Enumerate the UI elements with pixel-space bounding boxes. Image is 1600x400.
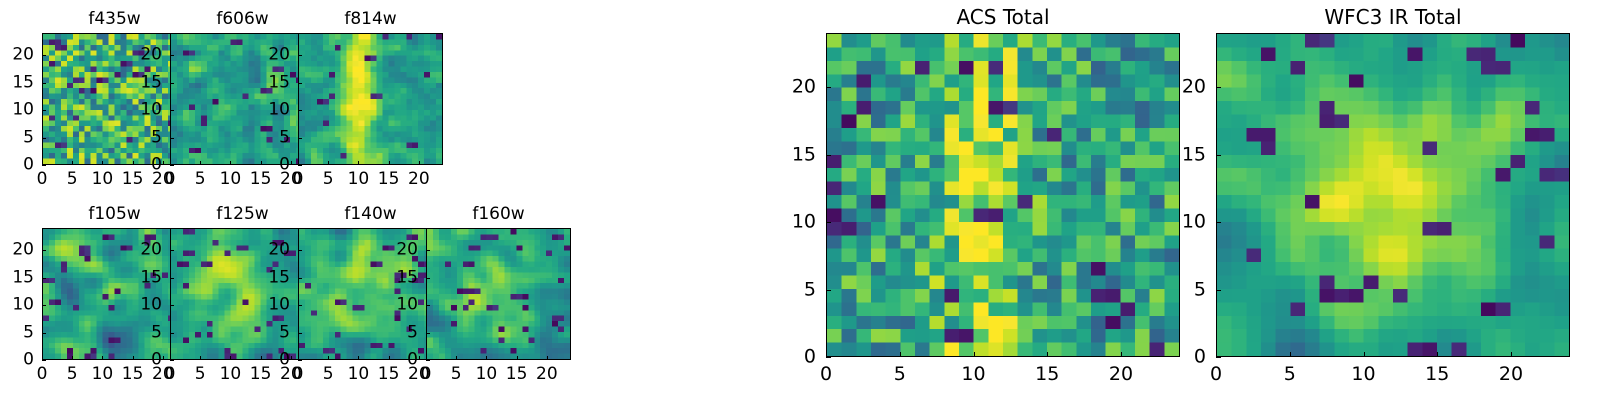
xtick-mark bbox=[1290, 352, 1291, 357]
ytick-label: 0 bbox=[1166, 348, 1206, 367]
ytick-label: 20 bbox=[1166, 78, 1206, 97]
xtick-label: 0 bbox=[165, 366, 176, 383]
ytick-mark bbox=[170, 138, 174, 139]
ytick-label: 0 bbox=[0, 352, 34, 369]
panel-f435w: f435w0510152005101520 bbox=[42, 33, 187, 165]
ytick-mark bbox=[42, 333, 46, 334]
ytick-label: 0 bbox=[122, 352, 162, 369]
ytick-mark bbox=[426, 278, 430, 279]
panel-title-f435w: f435w bbox=[42, 11, 187, 28]
ytick-mark bbox=[42, 278, 46, 279]
ytick-label: 0 bbox=[378, 352, 418, 369]
ytick-mark bbox=[426, 333, 430, 334]
xtick-label: 15 bbox=[378, 366, 400, 383]
ytick-label: 5 bbox=[122, 324, 162, 341]
ytick-mark bbox=[170, 55, 174, 56]
heatmap-f160w bbox=[426, 228, 571, 360]
ytick-label: 15 bbox=[122, 269, 162, 286]
xtick-label: 5 bbox=[323, 366, 334, 383]
xtick-label: 15 bbox=[250, 366, 272, 383]
panel-acs-total: ACS Total0510152005101520 bbox=[826, 33, 1180, 357]
ytick-mark bbox=[170, 110, 174, 111]
panel-title-f160w: f160w bbox=[426, 206, 571, 223]
ytick-label: 5 bbox=[776, 280, 816, 299]
ytick-mark bbox=[298, 250, 302, 251]
xtick-label: 0 bbox=[37, 366, 48, 383]
ytick-mark bbox=[826, 222, 831, 223]
ytick-label: 10 bbox=[0, 297, 34, 314]
heatmap-wfc3-ir-total bbox=[1216, 33, 1570, 357]
panel-empty-top-right bbox=[426, 33, 571, 165]
xtick-label: 10 bbox=[1351, 365, 1375, 384]
xtick-label: 15 bbox=[250, 171, 272, 188]
heatmap-image-acs-total bbox=[827, 34, 1179, 356]
ytick-mark bbox=[42, 83, 46, 84]
xtick-mark bbox=[102, 356, 103, 360]
ytick-mark bbox=[42, 110, 46, 111]
xtick-label: 5 bbox=[195, 366, 206, 383]
ytick-label: 15 bbox=[776, 145, 816, 164]
ytick-mark bbox=[298, 55, 302, 56]
xtick-label: 15 bbox=[122, 171, 144, 188]
ytick-mark bbox=[42, 138, 46, 139]
ytick-mark bbox=[42, 165, 46, 166]
xtick-label: 0 bbox=[421, 366, 432, 383]
xtick-label: 20 bbox=[408, 171, 430, 188]
ytick-mark bbox=[298, 278, 302, 279]
xtick-mark bbox=[328, 161, 329, 165]
ytick-label: 5 bbox=[122, 129, 162, 146]
ytick-label: 10 bbox=[122, 297, 162, 314]
xtick-mark bbox=[328, 356, 329, 360]
heatmap-f105w bbox=[42, 228, 187, 360]
ytick-label: 20 bbox=[776, 78, 816, 97]
ytick-label: 5 bbox=[0, 129, 34, 146]
xtick-label: 15 bbox=[1035, 365, 1059, 384]
ytick-mark bbox=[42, 55, 46, 56]
xtick-label: 10 bbox=[476, 366, 498, 383]
xtick-label: 5 bbox=[894, 365, 906, 384]
panel-f105w: f105w0510152005101520 bbox=[42, 228, 187, 360]
xtick-label: 0 bbox=[37, 171, 48, 188]
ytick-mark bbox=[42, 305, 46, 306]
xtick-label: 5 bbox=[1284, 365, 1296, 384]
xtick-label: 15 bbox=[506, 366, 528, 383]
xtick-label: 0 bbox=[293, 171, 304, 188]
ytick-mark bbox=[426, 360, 430, 361]
ytick-mark bbox=[298, 333, 302, 334]
ytick-mark bbox=[298, 138, 302, 139]
xtick-mark bbox=[72, 161, 73, 165]
panel-title-f606w: f606w bbox=[170, 11, 315, 28]
heatmap-image-f435w bbox=[43, 34, 186, 164]
heatmap-f606w bbox=[170, 33, 315, 165]
ytick-mark bbox=[170, 360, 174, 361]
ytick-mark bbox=[170, 278, 174, 279]
xtick-label: 0 bbox=[1210, 365, 1222, 384]
ytick-mark bbox=[426, 250, 430, 251]
xtick-label: 10 bbox=[92, 366, 114, 383]
xtick-mark bbox=[1437, 352, 1438, 357]
xtick-mark bbox=[419, 161, 420, 165]
panel-wfc3-ir-total: WFC3 IR Total0510152005101520 bbox=[1216, 33, 1570, 357]
ytick-mark bbox=[298, 305, 302, 306]
ytick-mark bbox=[170, 333, 174, 334]
heatmap-image-f606w bbox=[171, 34, 314, 164]
ytick-label: 0 bbox=[250, 157, 290, 174]
xtick-mark bbox=[1511, 352, 1512, 357]
xtick-label: 10 bbox=[92, 171, 114, 188]
heatmap-f125w bbox=[170, 228, 315, 360]
xtick-label: 20 bbox=[1499, 365, 1523, 384]
ytick-mark bbox=[170, 83, 174, 84]
ytick-mark bbox=[826, 155, 831, 156]
xtick-mark bbox=[200, 161, 201, 165]
ytick-mark bbox=[170, 165, 174, 166]
ytick-label: 5 bbox=[378, 324, 418, 341]
panel-title-f814w: f814w bbox=[298, 11, 443, 28]
ytick-mark bbox=[298, 110, 302, 111]
heatmap-image-f814w bbox=[299, 34, 442, 164]
heatmap-image-f140w bbox=[299, 229, 442, 359]
xtick-label: 0 bbox=[820, 365, 832, 384]
xtick-label: 5 bbox=[67, 171, 78, 188]
ytick-label: 0 bbox=[250, 352, 290, 369]
xtick-mark bbox=[102, 161, 103, 165]
ytick-mark bbox=[42, 360, 46, 361]
xtick-label: 10 bbox=[348, 171, 370, 188]
ytick-label: 10 bbox=[378, 297, 418, 314]
panel-f606w: f606w0510152005101520 bbox=[170, 33, 315, 165]
ytick-mark bbox=[1216, 290, 1221, 291]
ytick-mark bbox=[1216, 87, 1221, 88]
ytick-mark bbox=[170, 250, 174, 251]
heatmap-f814w bbox=[298, 33, 443, 165]
panel-f160w: f160w0510152005101520 bbox=[426, 228, 571, 360]
ytick-label: 20 bbox=[122, 242, 162, 259]
ytick-label: 10 bbox=[250, 102, 290, 119]
panel-f140w: f140w0510152005101520 bbox=[298, 228, 443, 360]
panel-f814w: f814w0510152005101520 bbox=[298, 33, 443, 165]
ytick-mark bbox=[826, 87, 831, 88]
xtick-label: 15 bbox=[122, 366, 144, 383]
ytick-label: 5 bbox=[0, 324, 34, 341]
ytick-label: 5 bbox=[250, 129, 290, 146]
xtick-label: 15 bbox=[1425, 365, 1449, 384]
panel-title-f105w: f105w bbox=[42, 206, 187, 223]
ytick-label: 15 bbox=[250, 74, 290, 91]
ytick-label: 15 bbox=[378, 269, 418, 286]
xtick-mark bbox=[163, 356, 164, 360]
ytick-label: 20 bbox=[0, 47, 34, 64]
ytick-label: 20 bbox=[250, 47, 290, 64]
ytick-label: 15 bbox=[250, 269, 290, 286]
xtick-mark bbox=[72, 356, 73, 360]
ytick-label: 15 bbox=[0, 74, 34, 91]
xtick-mark bbox=[230, 356, 231, 360]
xtick-mark bbox=[358, 161, 359, 165]
xtick-mark bbox=[517, 356, 518, 360]
heatmap-image-f160w bbox=[427, 229, 570, 359]
ytick-label: 20 bbox=[122, 47, 162, 64]
ytick-label: 0 bbox=[122, 157, 162, 174]
heatmap-image-f105w bbox=[43, 229, 186, 359]
ytick-label: 20 bbox=[0, 242, 34, 259]
xtick-mark bbox=[900, 352, 901, 357]
ytick-label: 10 bbox=[0, 102, 34, 119]
ytick-mark bbox=[298, 360, 302, 361]
ytick-label: 15 bbox=[0, 269, 34, 286]
ytick-mark bbox=[1216, 155, 1221, 156]
ytick-label: 20 bbox=[378, 242, 418, 259]
ytick-mark bbox=[42, 250, 46, 251]
ytick-label: 20 bbox=[250, 242, 290, 259]
xtick-mark bbox=[1047, 352, 1048, 357]
xtick-mark bbox=[486, 356, 487, 360]
xtick-mark bbox=[291, 356, 292, 360]
xtick-mark bbox=[974, 352, 975, 357]
xtick-label: 5 bbox=[451, 366, 462, 383]
heatmap-f435w bbox=[42, 33, 187, 165]
figure-canvas: f435w0510152005101520f606w05101520051015… bbox=[0, 0, 1600, 400]
ytick-mark bbox=[298, 165, 302, 166]
xtick-mark bbox=[163, 161, 164, 165]
xtick-label: 5 bbox=[195, 171, 206, 188]
ytick-mark bbox=[170, 305, 174, 306]
xtick-label: 20 bbox=[1109, 365, 1133, 384]
ytick-label: 15 bbox=[122, 74, 162, 91]
xtick-label: 0 bbox=[165, 171, 176, 188]
ytick-label: 10 bbox=[122, 102, 162, 119]
ytick-mark bbox=[426, 305, 430, 306]
ytick-label: 0 bbox=[0, 157, 34, 174]
heatmap-acs-total bbox=[826, 33, 1180, 357]
xtick-label: 5 bbox=[67, 366, 78, 383]
xtick-label: 15 bbox=[378, 171, 400, 188]
panel-title-f140w: f140w bbox=[298, 206, 443, 223]
xtick-label: 0 bbox=[293, 366, 304, 383]
panel-title-wfc3-ir-total: WFC3 IR Total bbox=[1216, 7, 1570, 27]
ytick-label: 10 bbox=[250, 297, 290, 314]
xtick-mark bbox=[547, 356, 548, 360]
xtick-label: 20 bbox=[536, 366, 558, 383]
xtick-label: 10 bbox=[220, 171, 242, 188]
ytick-label: 10 bbox=[776, 213, 816, 232]
xtick-label: 10 bbox=[220, 366, 242, 383]
ytick-label: 5 bbox=[250, 324, 290, 341]
ytick-label: 10 bbox=[1166, 213, 1206, 232]
xtick-mark bbox=[230, 161, 231, 165]
panel-f125w: f125w0510152005101520 bbox=[170, 228, 315, 360]
ytick-label: 0 bbox=[776, 348, 816, 367]
xtick-label: 10 bbox=[348, 366, 370, 383]
panel-title-f125w: f125w bbox=[170, 206, 315, 223]
xtick-label: 10 bbox=[961, 365, 985, 384]
xtick-mark bbox=[291, 161, 292, 165]
xtick-label: 5 bbox=[323, 171, 334, 188]
xtick-mark bbox=[456, 356, 457, 360]
xtick-mark bbox=[389, 161, 390, 165]
xtick-mark bbox=[200, 356, 201, 360]
ytick-mark bbox=[826, 357, 831, 358]
ytick-mark bbox=[826, 290, 831, 291]
xtick-mark bbox=[1121, 352, 1122, 357]
ytick-label: 15 bbox=[1166, 145, 1206, 164]
xtick-mark bbox=[1364, 352, 1365, 357]
xtick-mark bbox=[419, 356, 420, 360]
ytick-mark bbox=[1216, 357, 1221, 358]
ytick-mark bbox=[1216, 222, 1221, 223]
panel-title-acs-total: ACS Total bbox=[826, 7, 1180, 27]
ytick-mark bbox=[298, 83, 302, 84]
heatmap-image-wfc3-ir-total bbox=[1217, 34, 1569, 356]
xtick-mark bbox=[358, 356, 359, 360]
heatmap-f140w bbox=[298, 228, 443, 360]
ytick-label: 5 bbox=[1166, 280, 1206, 299]
heatmap-image-f125w bbox=[171, 229, 314, 359]
